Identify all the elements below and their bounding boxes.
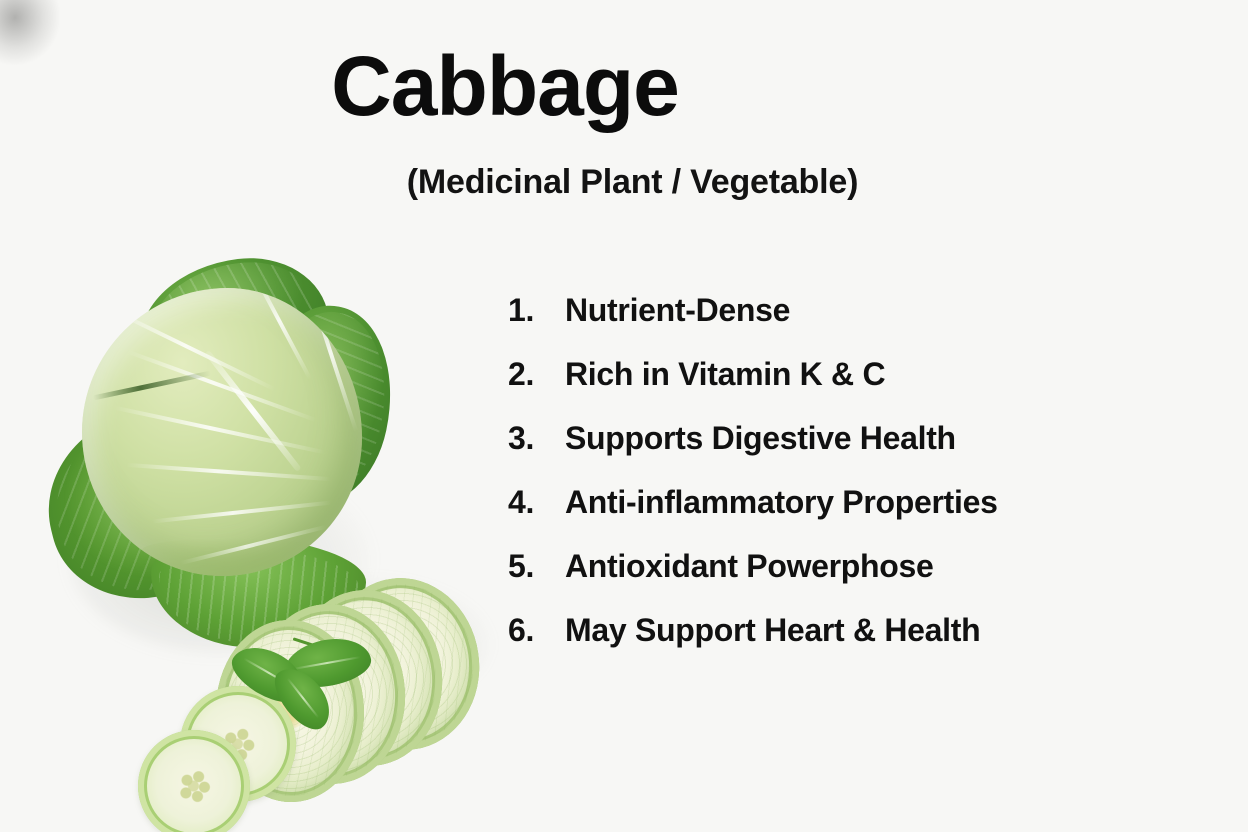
- cabbage-head-base-shade: [142, 538, 322, 576]
- list-item: 6. May Support Heart & Health: [508, 612, 998, 676]
- list-item: 3. Supports Digestive Health: [508, 420, 998, 484]
- list-item-number: 3.: [508, 420, 565, 457]
- list-item: 2. Rich in Vitamin K & C: [508, 356, 998, 420]
- page-title: Cabbage: [0, 44, 1010, 128]
- cabbage-vein: [152, 501, 331, 524]
- list-item-label: Antioxidant Powerphose: [565, 548, 934, 585]
- list-item-number: 2.: [508, 356, 565, 393]
- list-item-label: Supports Digestive Health: [565, 420, 956, 457]
- list-item-label: Rich in Vitamin K & C: [565, 356, 885, 393]
- page-subtitle: (Medicinal Plant / Vegetable): [240, 163, 1025, 202]
- list-item-number: 1.: [508, 292, 565, 329]
- infographic-canvas: Cabbage (Medicinal Plant / Vegetable) 1.…: [0, 0, 1248, 832]
- list-item: 4. Anti-inflammatory Properties: [508, 484, 998, 548]
- list-item-label: May Support Heart & Health: [565, 612, 980, 649]
- cabbage-photo: [30, 248, 490, 720]
- benefits-list: 1. Nutrient-Dense 2. Rich in Vitamin K &…: [508, 292, 998, 676]
- list-item-number: 5.: [508, 548, 565, 585]
- list-item-number: 4.: [508, 484, 565, 521]
- whole-cabbage-head: [82, 288, 362, 576]
- cucumber-slice-seeds: [165, 757, 223, 815]
- cabbage-leaf-crease: [93, 371, 211, 401]
- list-item: 5. Antioxidant Powerphose: [508, 548, 998, 612]
- list-item-label: Nutrient-Dense: [565, 292, 790, 329]
- list-item-label: Anti-inflammatory Properties: [565, 484, 998, 521]
- list-item: 1. Nutrient-Dense: [508, 292, 998, 356]
- list-item-number: 6.: [508, 612, 565, 649]
